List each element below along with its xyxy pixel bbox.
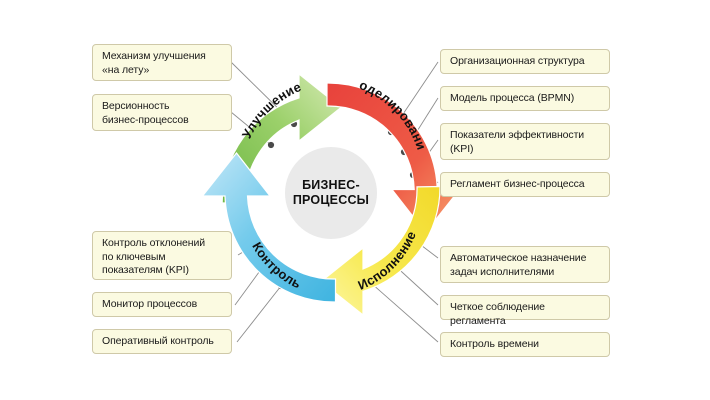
callout-mehanizm-uluchsheniya[interactable]: Механизм улучшения «на лету» xyxy=(92,44,232,81)
callout-chetkoe-soblyudenie[interactable]: Четкое соблюдение регламента xyxy=(440,295,610,320)
callout-reglament-biznes-processa[interactable]: Регламент бизнес-процесса xyxy=(440,172,610,197)
callout-kontrol-vremeni[interactable]: Контроль времени xyxy=(440,332,610,357)
center-label: БИЗНЕС- ПРОЦЕССЫ xyxy=(281,178,381,208)
callout-organizacionnaya-struktura[interactable]: Организационная структура xyxy=(440,49,610,74)
callout-kontrol-otkloneniy[interactable]: Контроль отклонений по ключевым показате… xyxy=(92,231,232,280)
callout-operativnyy-kontrol[interactable]: Оперативный контроль xyxy=(92,329,232,354)
callout-pokazateli-effektivnosti[interactable]: Показатели эффективности (KPI) xyxy=(440,123,610,160)
callout-monitor-processov[interactable]: Монитор процессов xyxy=(92,292,232,317)
callout-model-processa-bpmn[interactable]: Модель процесса (BPMN) xyxy=(440,86,610,111)
callout-versionnost-processov[interactable]: Версионность бизнес-процессов xyxy=(92,94,232,131)
diagram-root: Улучшение Моделирование Исполнение Контр… xyxy=(0,0,710,400)
callout-avtomaticheskoe-naznachenie[interactable]: Автоматическое назначение задач исполнит… xyxy=(440,246,610,283)
